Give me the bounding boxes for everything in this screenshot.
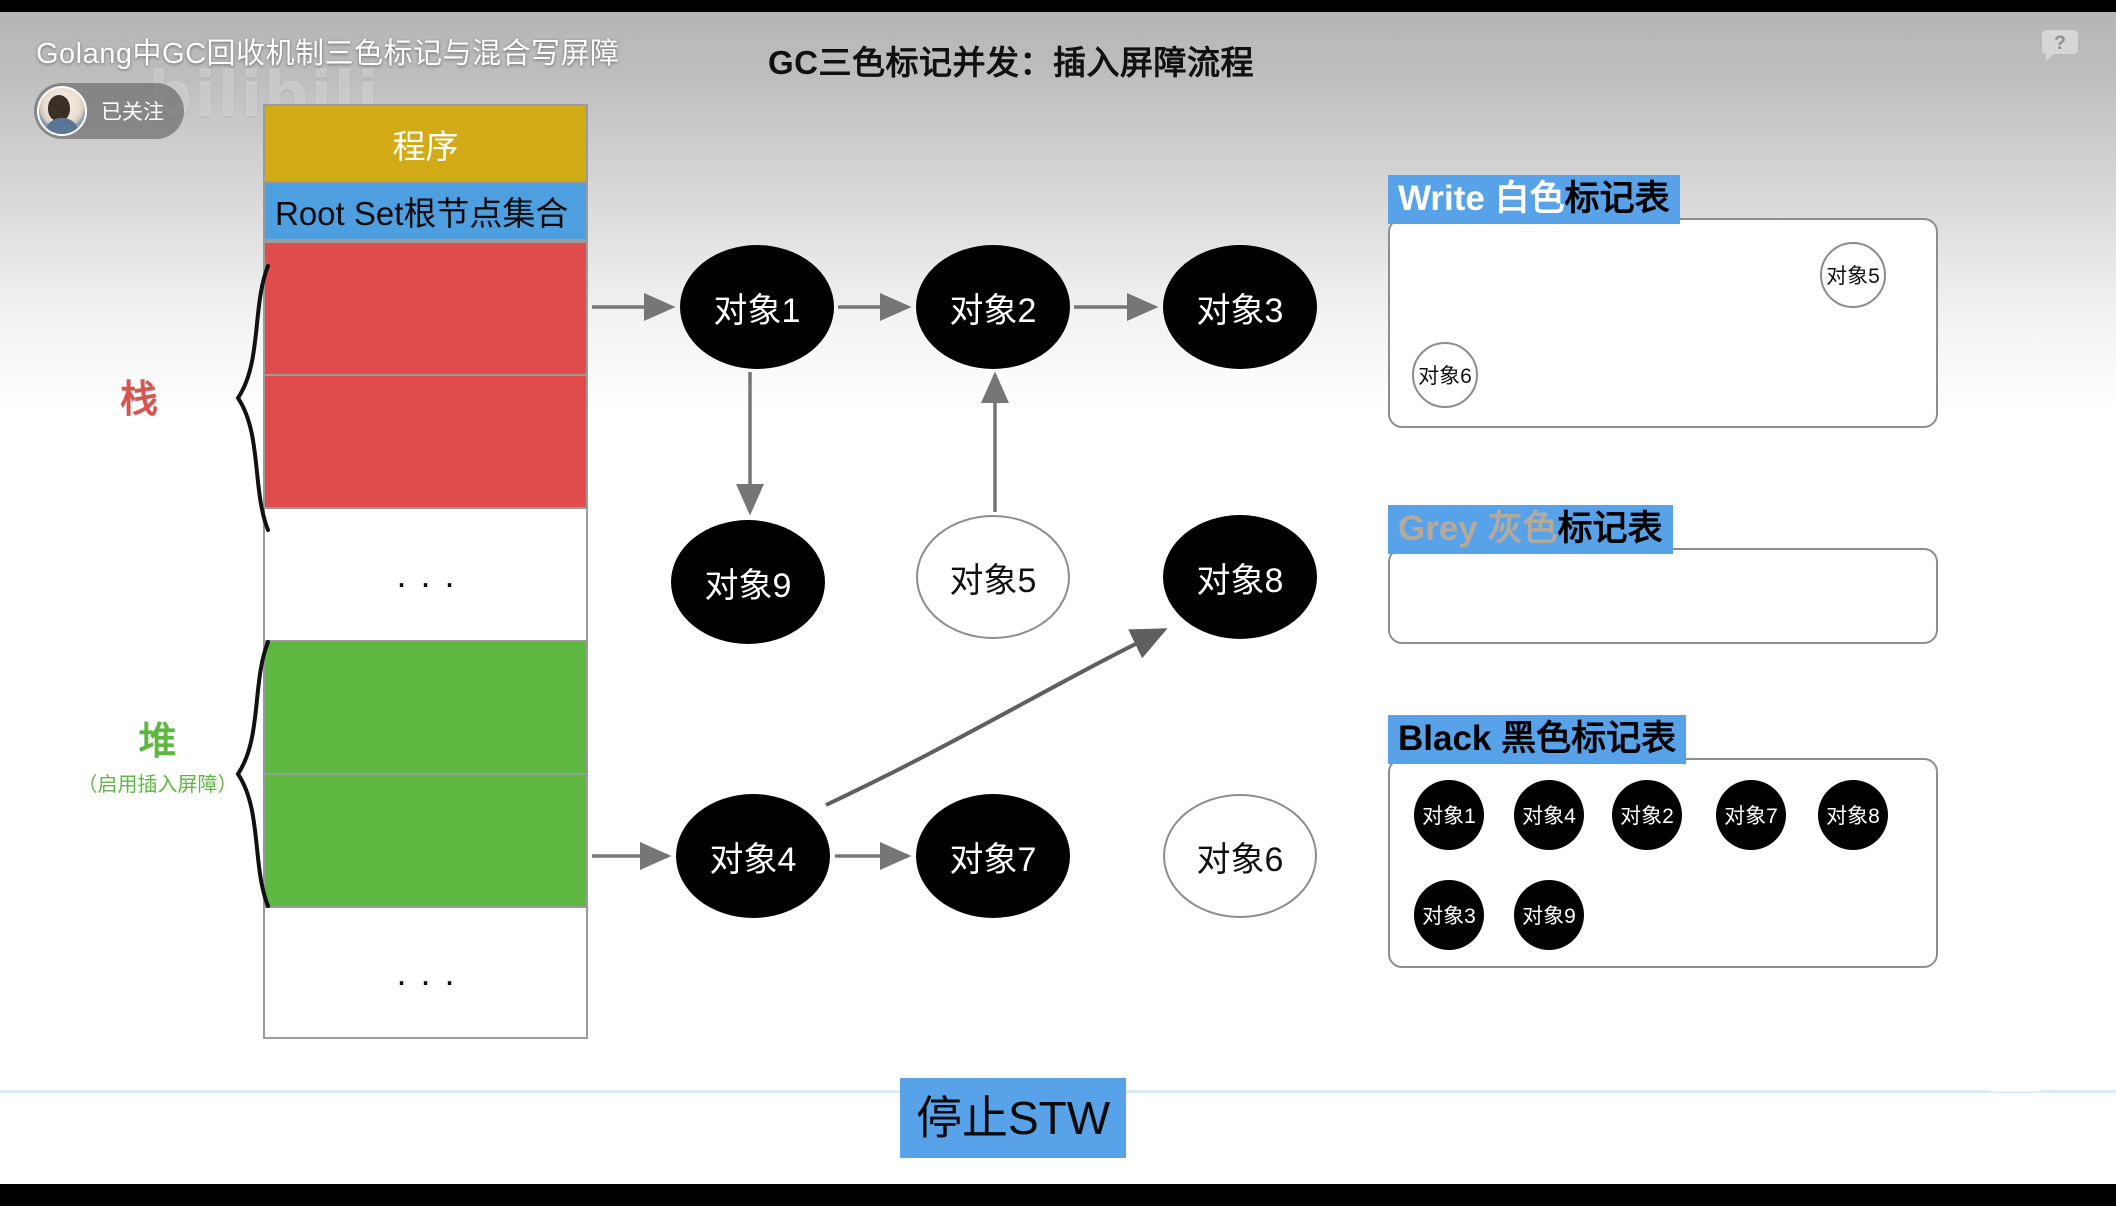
mark-chip-label: 对象9 — [1522, 900, 1576, 930]
mark-chip-对象4: 对象4 — [1514, 780, 1584, 850]
graph-node-obj4: 对象4 — [676, 794, 830, 918]
black-mark-table-title: Black 黑色标记表 — [1388, 715, 1686, 764]
heap-sub-label: （启用插入屏障） — [60, 768, 255, 797]
grey-title-rest: 标记表 — [1558, 509, 1663, 548]
mark-chip-对象9: 对象9 — [1514, 880, 1584, 950]
graph-node-obj8: 对象8 — [1163, 515, 1317, 639]
stack-label: 栈 — [120, 368, 158, 423]
grey-mark-table-title: Grey 灰色标记表 — [1388, 505, 1673, 554]
black-title-en: Black — [1398, 719, 1501, 758]
mark-chip-label: 对象1 — [1422, 800, 1476, 830]
mark-chip-label: 对象3 — [1422, 900, 1476, 930]
graph-node-label: 对象9 — [705, 558, 792, 607]
ellipsis-heap: ... — [382, 969, 468, 976]
white-title-rest: 标记表 — [1565, 179, 1670, 218]
mark-chip-对象2: 对象2 — [1612, 780, 1682, 850]
stw-banner: 停止STW — [900, 1078, 1126, 1158]
stack-cell-1 — [263, 241, 588, 374]
program-box: 程序 — [263, 104, 588, 183]
bilibili-tv-logo — [1960, 1006, 2068, 1106]
root-set-box: Root Set根节点集合 — [263, 183, 588, 241]
grey-title-en: Grey — [1398, 509, 1488, 548]
heap-cell-2 — [263, 773, 588, 906]
question-bubble-icon[interactable]: ? — [2040, 28, 2080, 64]
follow-button-label: 已关注 — [101, 96, 164, 126]
letterbox-bottom — [0, 1184, 2116, 1206]
mark-chip-label: 对象2 — [1620, 800, 1674, 830]
mark-chip-对象3: 对象3 — [1414, 880, 1484, 950]
graph-node-obj1: 对象1 — [680, 245, 834, 369]
grey-title-color: 灰色 — [1488, 509, 1558, 548]
mark-chip-对象6: 对象6 — [1412, 342, 1478, 408]
stack-cell-2 — [263, 374, 588, 507]
grey-mark-table-box — [1388, 548, 1938, 644]
graph-node-label: 对象4 — [710, 832, 797, 881]
letterbox-top — [0, 0, 2116, 12]
heap-label-group: 堆 （启用插入屏障） — [60, 722, 255, 797]
graph-node-label: 对象1 — [714, 283, 801, 332]
ellipsis-stack: ... — [382, 571, 468, 578]
graph-node-label: 对象5 — [950, 553, 1037, 602]
program-label: 程序 — [393, 120, 459, 168]
mark-chip-label: 对象8 — [1826, 800, 1880, 830]
white-mark-table-section: Write 白色标记表 对象5对象6 — [1388, 175, 1938, 428]
mark-chip-label: 对象7 — [1724, 800, 1778, 830]
video-title: Golang中GC回收机制三色标记与混合写屏障 — [36, 30, 620, 72]
avatar[interactable] — [37, 86, 87, 136]
video-player-stage: bilibili Golang中GC回收机制三色标记与混合写屏障 已关注 ? G… — [0, 0, 2116, 1206]
mark-chip-对象8: 对象8 — [1818, 780, 1888, 850]
graph-node-obj6: 对象6 — [1163, 794, 1317, 918]
mark-chip-label: 对象5 — [1826, 260, 1880, 290]
stack-brace — [228, 262, 274, 534]
white-mark-table-box: 对象5对象6 — [1388, 218, 1938, 428]
graph-node-label: 对象2 — [950, 283, 1037, 332]
white-title-en: Write — [1398, 179, 1495, 218]
graph-node-obj5: 对象5 — [916, 515, 1070, 639]
white-title-color: 白色 — [1495, 179, 1565, 218]
page-title: GC三色标记并发：插入屏障流程 — [768, 36, 1254, 84]
follow-button[interactable]: 已关注 — [34, 83, 184, 139]
graph-node-obj3: 对象3 — [1163, 245, 1317, 369]
heap-cell-1 — [263, 640, 588, 773]
mark-chip-对象7: 对象7 — [1716, 780, 1786, 850]
root-set-label: Root Set根节点集合 — [275, 187, 568, 235]
graph-node-label: 对象8 — [1197, 553, 1284, 602]
mark-chip-label: 对象4 — [1522, 800, 1576, 830]
stack-gap-cell: ... — [263, 507, 588, 640]
black-mark-table-section: Black 黑色标记表 对象1对象4对象2对象7对象8对象3对象9 — [1388, 715, 1938, 968]
graph-node-obj2: 对象2 — [916, 245, 1070, 369]
black-title-rest: 标记表 — [1571, 719, 1676, 758]
memory-column: 程序 Root Set根节点集合 ... ... — [263, 104, 588, 1039]
graph-node-obj7: 对象7 — [916, 794, 1070, 918]
heap-label: 堆 — [60, 722, 255, 764]
black-title-color: 黑色 — [1501, 719, 1571, 758]
svg-text:?: ? — [2054, 33, 2066, 54]
graph-node-label: 对象3 — [1197, 283, 1284, 332]
graph-node-label: 对象7 — [950, 832, 1037, 881]
graph-node-obj9: 对象9 — [671, 520, 825, 644]
mark-chip-对象5: 对象5 — [1820, 242, 1886, 308]
graph-node-label: 对象6 — [1197, 832, 1284, 881]
mark-chip-对象1: 对象1 — [1414, 780, 1484, 850]
mark-chip-label: 对象6 — [1418, 360, 1472, 390]
heap-gap-cell: ... — [263, 906, 588, 1039]
black-mark-table-box: 对象1对象4对象2对象7对象8对象3对象9 — [1388, 758, 1938, 968]
white-mark-table-title: Write 白色标记表 — [1388, 175, 1680, 224]
grey-mark-table-section: Grey 灰色标记表 — [1388, 505, 1938, 644]
